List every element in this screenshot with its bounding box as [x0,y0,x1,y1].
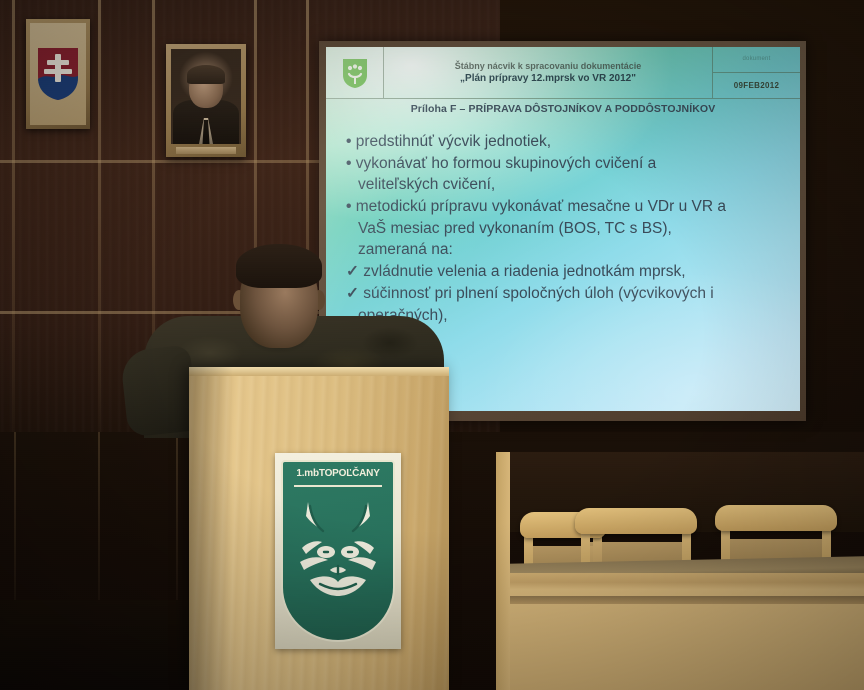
lynx-head-icon [290,496,386,608]
slide-header-logo-cell [326,47,384,99]
chair-backrest [575,508,697,534]
framed-portrait [166,44,246,157]
slide-bullet-line: • metodickú prípravu vykonávať mesačne u… [346,196,790,218]
slovak-coat-of-arms-frame [26,19,90,129]
speaker-podium: 1.mbTOPOĽČANY [189,367,449,690]
portrait-hair [187,65,225,84]
slide-title-line2: „Plán prípravy 12.mprsk vo VR 2012" [460,73,636,84]
speaker-hair [236,244,322,288]
slide-bullet-text: metodickú prípravu vykonávať mesačne u V… [356,198,726,215]
slovak-coat-of-arms-icon [36,46,80,102]
bullet-marker-icon: • [346,198,356,215]
slide-bullet-line: VaŠ mesiac pred vykonaním (BOS, TC s BS)… [346,218,790,240]
emblem-title: 1.mbTOPOĽČANY [283,468,393,479]
wall-seam-vertical [98,0,101,452]
slide-meta-label: dokument [713,47,800,73]
slide-header-title-cell: Štábny nácvik k spracovaniu dokumentácie… [384,47,712,99]
conference-table-edge [505,596,864,604]
unit-emblem-icon [340,57,370,89]
bullet-marker-icon: • [346,133,356,150]
portrait-photo [171,49,241,144]
slide-bullet-line: • vykonávať ho formou skupinových cvičen… [346,153,790,175]
slide-bullet-text: vykonávať ho formou skupinových cvičení … [356,155,656,172]
slide-meta-date: 09FEB2012 [713,73,800,99]
unit-emblem-poster: 1.mbTOPOĽČANY [275,453,401,649]
slide-title-line1: Štábny nácvik k spracovaniu dokumentácie [455,61,642,71]
slide-bullet-line: veliteľských cvičení, [346,174,790,196]
slide-bullet-text: predstihnúť výcvik jednotiek, [356,133,551,150]
slide-bullet-text: veliteľských cvičení, [358,176,495,193]
bullet-marker-icon: • [346,155,356,172]
slide-header: Štábny nácvik k spracovaniu dokumentácie… [326,47,800,99]
slide-bullet-line: • predstihnúť výcvik jednotiek, [346,131,790,153]
presentation-room-photo: Štábny nácvik k spracovaniu dokumentácie… [0,0,864,690]
slide-subtitle: Príloha F – PRÍPRAVA DÔSTOJNÍKOV A PODDÔ… [326,103,800,115]
speaker-arm [120,345,199,438]
chair-backrest [715,505,837,531]
coat-of-arms-mat [30,23,86,125]
wall-seam-vertical [12,0,15,452]
portrait-nameplate [176,147,237,154]
emblem-shield: 1.mbTOPOĽČANY [281,460,395,642]
floor-area [0,600,190,690]
emblem-divider [294,485,382,487]
slide-header-meta-cell: dokument 09FEB2012 [712,47,800,99]
podium-shadow [189,367,233,690]
conference-table-front [505,573,864,690]
table-side-panel [496,452,510,690]
slide-bullet-text: VaŠ mesiac pred vykonaním (BOS, TC s BS)… [358,220,672,237]
